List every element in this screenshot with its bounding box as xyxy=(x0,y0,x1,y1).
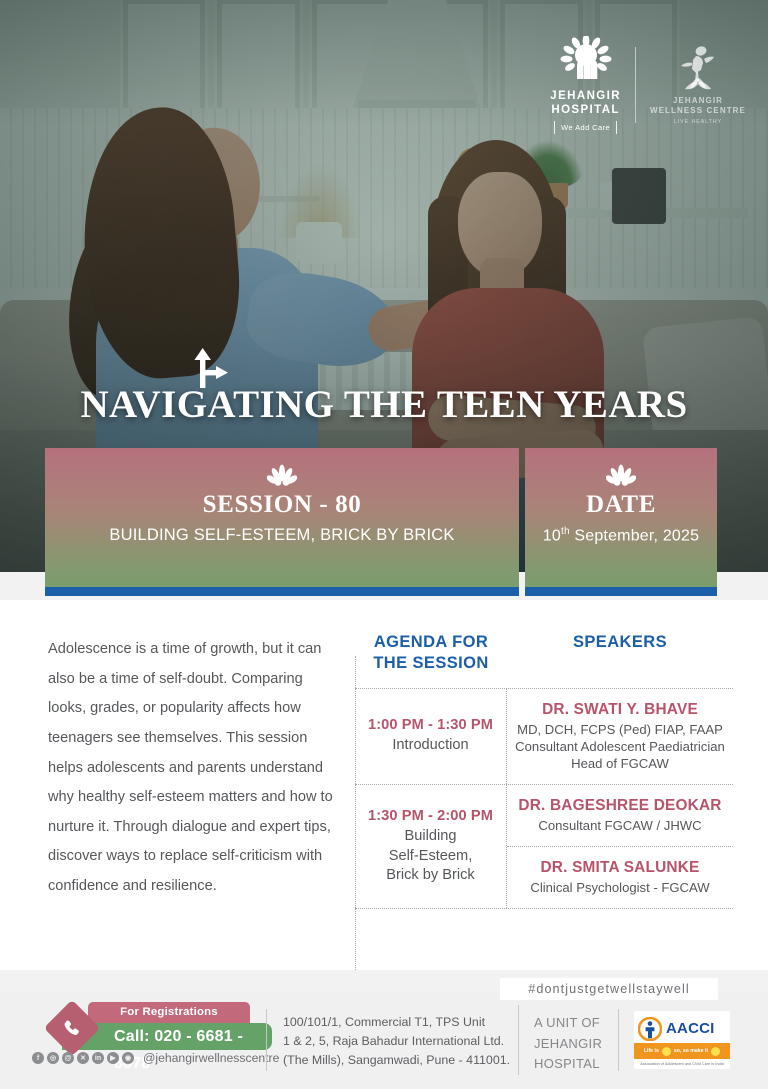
date-day: 10 xyxy=(543,528,561,545)
session-banner: SESSION - 80 BUILDING SELF-ESTEEM, BRICK… xyxy=(45,448,717,596)
address-block: 100/101/1, Commercial T1, TPS Unit 1 & 2… xyxy=(283,1013,511,1070)
hashtag-banner: #dontjustgetwellstaywell xyxy=(500,978,718,1000)
speaker-block: DR. SWATI Y. BHAVE MD, DCH, FCPS (Ped) F… xyxy=(507,689,733,784)
aacci-band: Life is so, so make it xyxy=(634,1043,730,1059)
speaker-name: DR. SMITA SALUNKE xyxy=(511,859,729,877)
lotus-icon xyxy=(267,464,297,486)
speaker-block: DR. SMITA SALUNKE Clinical Psychologist … xyxy=(507,846,733,908)
aacci-footnote: Association of Adolescent and Child Care… xyxy=(634,1059,730,1069)
address-line-2: 1 & 2, 5, Raja Bahadur International Ltd… xyxy=(283,1032,511,1051)
youtube-icon[interactable]: ▶ xyxy=(107,1052,119,1064)
footer-section: For Registrations Call: 020 - 6681 - 887… xyxy=(0,993,768,1089)
event-date: 10th September, 2025 xyxy=(543,526,699,545)
wellness-logo-text: JEHANGIR WELLNESS CENTRE xyxy=(650,96,746,115)
speaker-name: DR. SWATI Y. BHAVE xyxy=(511,701,729,719)
unit-line-2: JEHANGIR xyxy=(534,1034,630,1055)
date-ordinal: th xyxy=(561,526,570,537)
speaker-name: DR. BAGESHREE DEOKAR xyxy=(511,797,729,815)
session-number: SESSION - 80 xyxy=(203,492,362,518)
social-handle[interactable]: @jehangirwellnesscentre xyxy=(143,1051,279,1065)
agenda-topic: Introduction xyxy=(392,736,468,756)
agenda-speakers-table: AGENDA FOR THE SESSION SPEAKERS 1:00 PM … xyxy=(355,628,733,909)
session-subtitle: BUILDING SELF-ESTEEM, BRICK BY BRICK xyxy=(109,526,454,545)
session-cell: SESSION - 80 BUILDING SELF-ESTEEM, BRICK… xyxy=(45,448,519,596)
threads-icon[interactable]: @ xyxy=(62,1052,74,1064)
agenda-topic: Building Self-Esteem, Brick by Brick xyxy=(386,827,474,886)
address-line-1: 100/101/1, Commercial T1, TPS Unit xyxy=(283,1013,511,1032)
speakers-cell: DR. SWATI Y. BHAVE MD, DCH, FCPS (Ped) F… xyxy=(507,689,733,784)
aacci-wordmark: AACCI xyxy=(666,1020,715,1037)
whatsapp-icon[interactable]: ◉ xyxy=(122,1052,134,1064)
table-row: 1:30 PM - 2:00 PM Building Self-Esteem, … xyxy=(355,784,733,909)
footer-divider xyxy=(266,1009,267,1071)
speaker-block: DR. BAGESHREE DEOKAR Consultant FGCAW / … xyxy=(507,785,733,846)
table-row: 1:00 PM - 1:30 PM Introduction DR. SWATI… xyxy=(355,688,733,784)
agenda-time: 1:30 PM - 2:00 PM xyxy=(368,808,493,824)
unit-line-3: HOSPITAL xyxy=(534,1054,630,1075)
jehangir-wellness-centre-logo: JEHANGIR WELLNESS CENTRE LIVE HEALTHY xyxy=(650,45,746,124)
speaker-credentials: MD, DCH, FCPS (Ped) FIAP, FAAP Consultan… xyxy=(511,721,729,772)
linkedin-icon[interactable]: in xyxy=(92,1052,104,1064)
logo-lockup: JEHANGIR HOSPITAL We Add Care xyxy=(550,36,746,134)
registration-callout[interactable]: For Registrations Call: 020 - 6681 - 887… xyxy=(52,1002,264,1048)
page-title: NAVIGATING THE TEEN YEARS xyxy=(0,382,768,427)
smiley-icon xyxy=(711,1047,720,1056)
aacci-band-left: Life is xyxy=(644,1048,659,1054)
agenda-column-header: AGENDA FOR THE SESSION xyxy=(355,628,507,688)
logo-divider xyxy=(635,47,636,123)
date-month-year: September, 2025 xyxy=(570,528,700,545)
speaker-credentials: Consultant FGCAW / JHWC xyxy=(511,817,729,834)
x-icon[interactable]: ✕ xyxy=(77,1052,89,1064)
unit-of-block: A UNIT OF JEHANGIR HOSPITAL xyxy=(534,1013,630,1075)
jehangir-hospital-logo: JEHANGIR HOSPITAL We Add Care xyxy=(550,36,621,134)
content-section: Adolescence is a time of growth, but it … xyxy=(0,600,768,970)
date-label: DATE xyxy=(586,492,656,518)
agenda-cell: 1:30 PM - 2:00 PM Building Self-Esteem, … xyxy=(355,785,507,908)
footer-divider xyxy=(518,1005,519,1075)
speakers-cell: DR. BAGESHREE DEOKAR Consultant FGCAW / … xyxy=(507,785,733,908)
agenda-cell: 1:00 PM - 1:30 PM Introduction xyxy=(355,689,507,784)
address-line-3: (The Mills), Sangamwadi, Pune - 411001. xyxy=(283,1051,511,1070)
unit-line-1: A UNIT OF xyxy=(534,1013,630,1034)
registrations-label: For Registrations xyxy=(88,1002,250,1023)
footer-divider xyxy=(618,1009,619,1071)
date-cell: DATE 10th September, 2025 xyxy=(525,448,717,596)
hospital-logo-text: JEHANGIR HOSPITAL xyxy=(550,90,621,117)
speaker-credentials: Clinical Psychologist - FGCAW xyxy=(511,879,729,896)
wellness-figure-icon xyxy=(678,45,718,93)
lotus-icon xyxy=(606,464,636,486)
phone-icon xyxy=(63,1019,82,1038)
aacci-band-right: so, so make it xyxy=(674,1048,708,1054)
speakers-column-header: SPEAKERS xyxy=(507,628,733,688)
session-description: Adolescence is a time of growth, but it … xyxy=(48,635,338,902)
social-links[interactable]: f ◎ @ ✕ in ▶ ◉ @jehangirwellnesscentre xyxy=(32,1051,279,1065)
aacci-logo: AACCI Life is so, so make it Association… xyxy=(634,1011,730,1069)
hospital-tagline: We Add Care xyxy=(554,121,617,134)
aacci-logo-top: AACCI xyxy=(634,1011,730,1043)
table-header-row: AGENDA FOR THE SESSION SPEAKERS xyxy=(355,628,733,688)
child-figure-icon xyxy=(638,1017,662,1041)
facebook-icon[interactable]: f xyxy=(32,1052,44,1064)
sunflower-hand-icon xyxy=(560,36,612,86)
smiley-icon xyxy=(662,1047,671,1056)
agenda-time: 1:00 PM - 1:30 PM xyxy=(368,717,493,733)
wellness-logo-subtext: LIVE HEALTHY xyxy=(674,119,722,125)
instagram-icon[interactable]: ◎ xyxy=(47,1052,59,1064)
